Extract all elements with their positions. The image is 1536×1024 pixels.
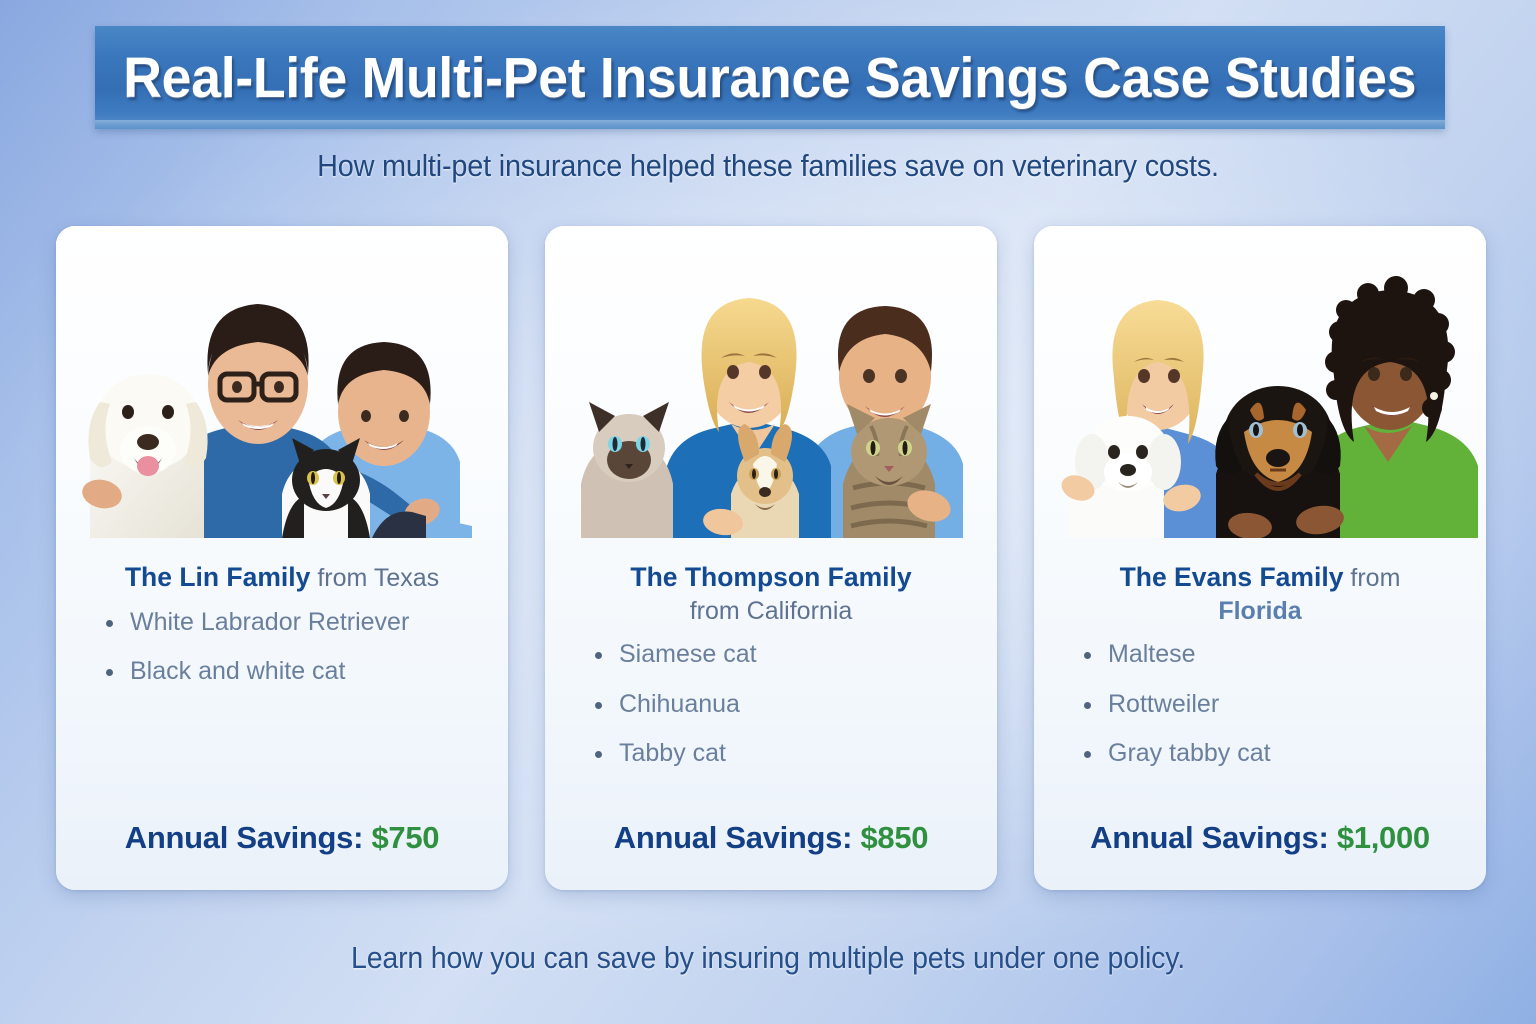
savings-line-evans: Annual Savings: $1,000	[1034, 820, 1486, 856]
list-item: Rottweiler	[1084, 691, 1460, 719]
family-heading-evans: The Evans Family from Florida	[1060, 560, 1460, 627]
family-name: The Thompson Family	[630, 562, 911, 592]
page-subtitle: How multi-pet insurance helped these fam…	[54, 148, 1482, 184]
family-photo-lin	[56, 226, 508, 538]
card-body-evans: The Evans Family from Florida Maltese Ro…	[1034, 538, 1486, 890]
family-photo-evans	[1034, 226, 1486, 538]
family-state: Florida	[1218, 597, 1301, 625]
case-study-card-row: The Lin Family from Texas White Labrador…	[56, 226, 1486, 890]
list-item: Black and white cat	[106, 658, 482, 686]
family-state: California	[747, 597, 853, 625]
savings-label: Annual Savings:	[614, 820, 852, 855]
infographic-poster: Real-Life Multi-Pet Insurance Savings Ca…	[0, 0, 1536, 1024]
list-item: White Labrador Retriever	[106, 609, 482, 637]
list-item: Chihuanua	[595, 691, 971, 719]
list-item: Siamese cat	[595, 641, 971, 669]
pet-list-thompson: Siamese cat Chihuanua Tabby cat	[571, 641, 971, 768]
family-photo-thompson	[545, 226, 997, 538]
family-name: The Evans Family	[1120, 562, 1344, 592]
card-body-thompson: The Thompson Family from California Siam…	[545, 538, 997, 890]
savings-line-lin: Annual Savings: $750	[56, 820, 508, 856]
from-word: from	[317, 564, 367, 592]
savings-amount: $850	[860, 820, 928, 855]
pet-list-evans: Maltese Rottweiler Gray tabby cat	[1060, 641, 1460, 768]
case-study-card-thompson[interactable]: The Thompson Family from California Siam…	[545, 226, 997, 890]
page-title: Real-Life Multi-Pet Insurance Savings Ca…	[124, 45, 1417, 111]
footer-note: Learn how you can save by insuring multi…	[61, 940, 1474, 976]
savings-label: Annual Savings:	[125, 820, 363, 855]
family-heading-thompson: The Thompson Family from California	[571, 560, 971, 627]
case-study-card-lin[interactable]: The Lin Family from Texas White Labrador…	[56, 226, 508, 890]
family-heading-lin: The Lin Family from Texas	[82, 560, 482, 595]
list-item: Tabby cat	[595, 740, 971, 768]
case-study-card-evans[interactable]: The Evans Family from Florida Maltese Ro…	[1034, 226, 1486, 890]
title-band: Real-Life Multi-Pet Insurance Savings Ca…	[95, 26, 1445, 129]
family-name: The Lin Family	[125, 562, 311, 592]
family-state: Texas	[374, 564, 439, 592]
from-word: from	[690, 597, 740, 625]
savings-amount: $1,000	[1337, 820, 1430, 855]
savings-label: Annual Savings:	[1090, 820, 1328, 855]
list-item: Maltese	[1084, 641, 1460, 669]
savings-amount: $750	[371, 820, 439, 855]
from-word: from	[1350, 564, 1400, 592]
list-item: Gray tabby cat	[1084, 740, 1460, 768]
pet-list-lin: White Labrador Retriever Black and white…	[82, 609, 482, 686]
savings-line-thompson: Annual Savings: $850	[545, 820, 997, 856]
card-body-lin: The Lin Family from Texas White Labrador…	[56, 538, 508, 890]
